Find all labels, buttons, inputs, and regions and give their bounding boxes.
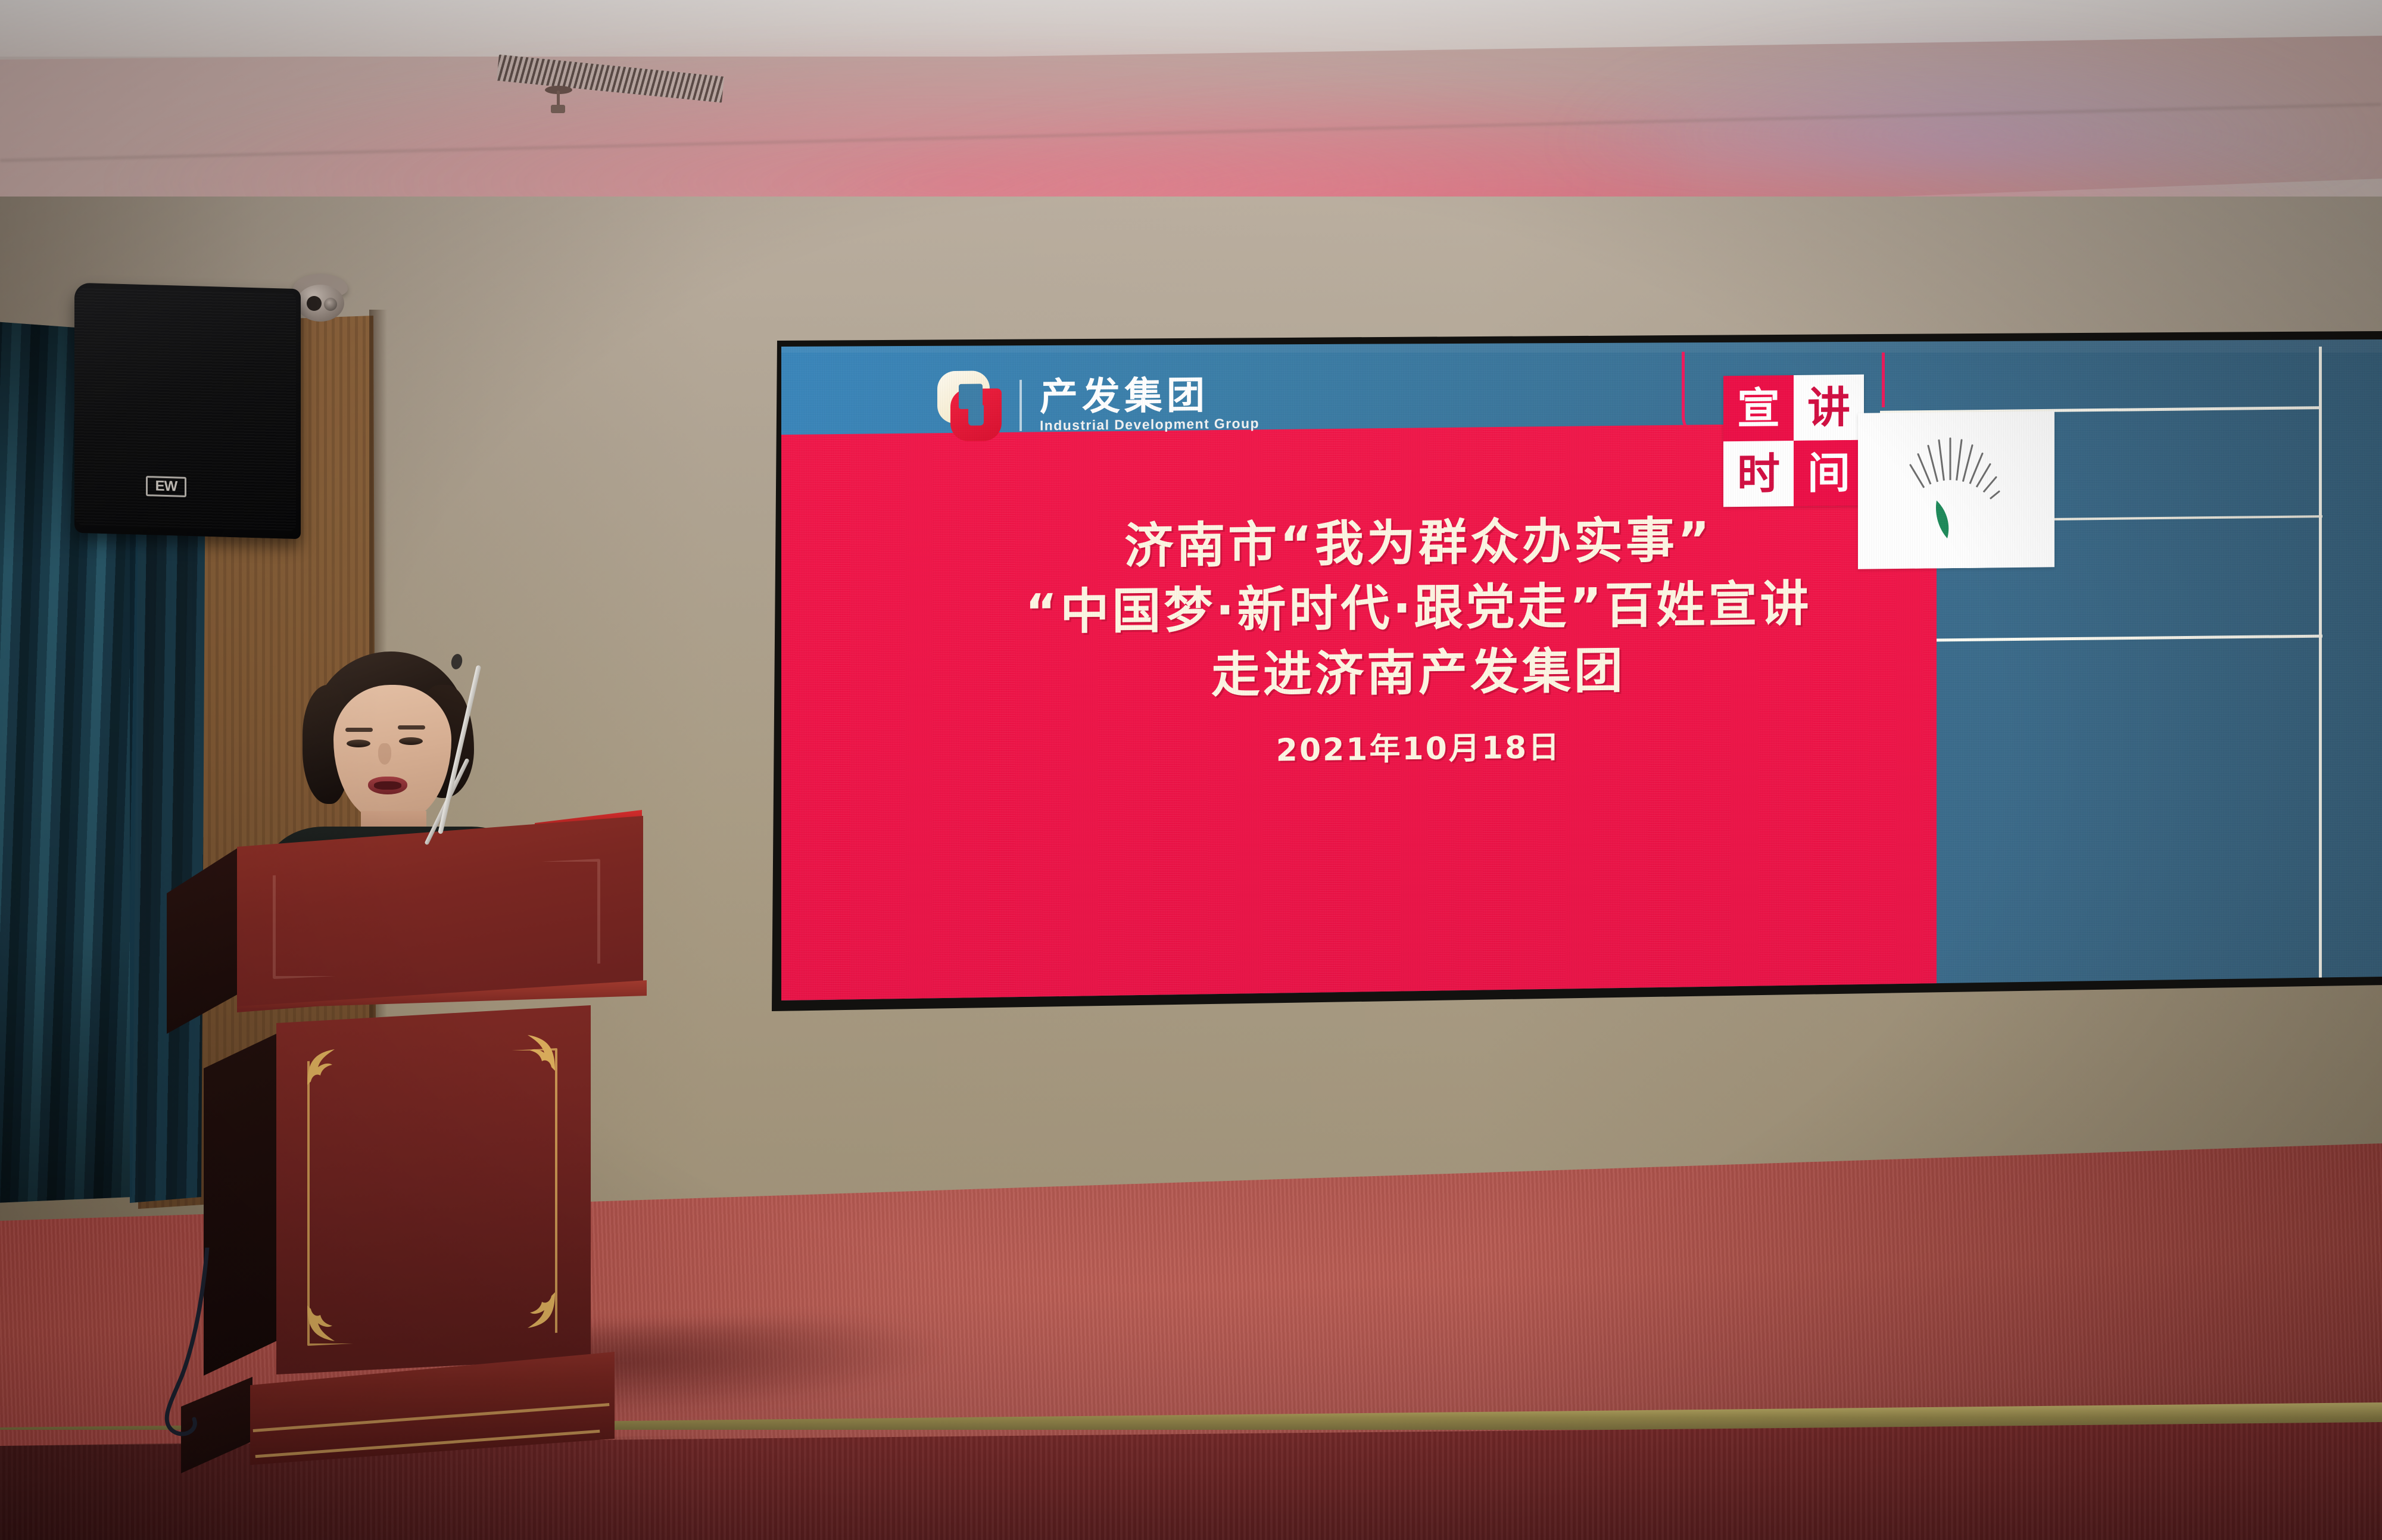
podium-ornament-bottom-right [511,1290,557,1332]
podium-desk-side [167,843,239,1034]
podium-ornament-bottom-left [305,1303,351,1345]
seal-cell-4: 间 [1794,440,1864,506]
floor-cable [137,1248,256,1444]
company-name-en: Industrial Development Group [1040,416,1259,432]
screen-headline-block: 济南市“我为群众办实事” “中国梦·新时代·跟党走”百姓宣讲 走进济南产发集团 … [930,513,1907,773]
seal-cell-1: 宣 [1723,375,1794,441]
sunburst-emblem-panel [1858,411,2054,569]
camera-ir-lens [324,298,337,311]
logo-text-block: 产发集团 Industrial Development Group [1040,376,1259,432]
headline-date: 2021年10月18日 [1276,722,1561,769]
company-name-cn: 产发集团 [1040,376,1259,416]
presenter-brow-left [345,728,373,732]
podium-desk-moulding [273,859,600,979]
presenter-brow-right [398,725,425,730]
pink-vertical-line [1882,353,1885,407]
led-display-wall: 产发集团 Industrial Development Group 济南市“我为… [781,339,2382,1002]
presenter-eye-left [347,740,370,747]
podium-ornament-top-left [305,1046,351,1087]
camera-lens [307,296,322,311]
presenter-face [333,685,451,822]
headline-line-2: “中国梦·新时代·跟党走”百姓宣讲 [1025,579,1812,639]
presenter-mouth-open [374,781,401,790]
corporate-logo: 产发集团 Industrial Development Group [937,366,1426,442]
loudspeaker-brand-logo: EW [146,476,186,497]
presenter-nose [378,743,391,765]
logo-divider [1019,380,1022,431]
presenter-eye-right [399,737,423,745]
white-right-line [2319,347,2322,990]
seal-cell-2: 讲 [1794,375,1864,441]
ceiling-glow-right [1548,18,2382,173]
xuanjiang-shijian-seal: 宣 讲 时 间 [1723,375,1864,507]
company-logo-mark [937,370,1002,441]
sprinkler-bulb [551,105,565,113]
stage-photo-scene: EW 产发集团 Industrial Development [0,0,2382,1540]
headline-line-3: 走进济南产发集团 [1211,646,1626,702]
podium-ornament-top-right [511,1031,557,1073]
logo-notch-lower [968,405,984,425]
sunburst-icon [1858,411,2054,569]
seal-cell-3: 时 [1723,441,1794,507]
headline-line-1: 济南市“我为群众办实事” [1124,515,1713,573]
